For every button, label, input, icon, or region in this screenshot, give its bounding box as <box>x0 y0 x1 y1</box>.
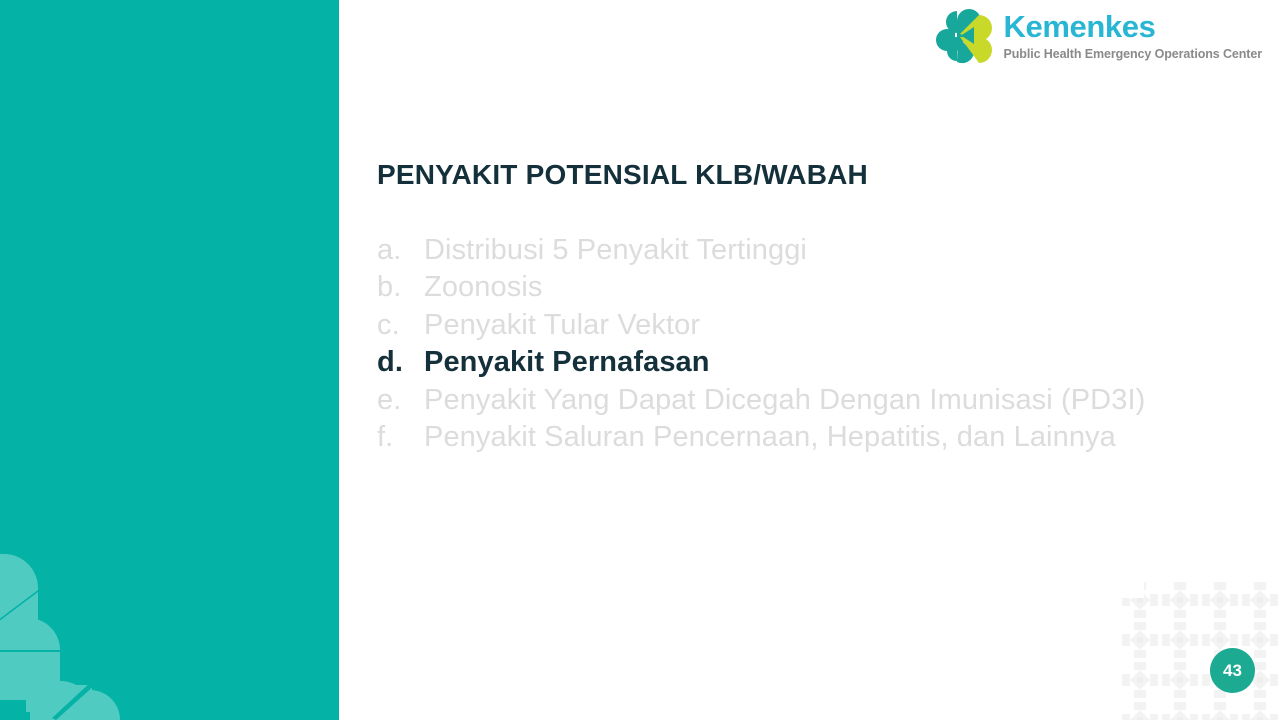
agenda-item[interactable]: a.Distribusi 5 Penyakit Tertinggi <box>377 232 1207 270</box>
agenda-item-marker: a. <box>377 232 424 270</box>
agenda-item-label: Penyakit Yang Dapat Dicegah Dengan Imuni… <box>424 382 1207 420</box>
agenda-item[interactable]: e.Penyakit Yang Dapat Dicegah Dengan Imu… <box>377 382 1207 420</box>
brand-logo: Kemenkes Public Health Emergency Operati… <box>934 7 1262 65</box>
agenda-list: a.Distribusi 5 Penyakit Tertinggib.Zoono… <box>377 232 1207 457</box>
agenda-item-label: Penyakit Saluran Pencernaan, Hepatitis, … <box>424 419 1207 457</box>
kemenkes-clover-logo-icon <box>934 7 996 65</box>
agenda-item[interactable]: d.Penyakit Pernafasan <box>377 344 1207 382</box>
agenda-item[interactable]: f.Penyakit Saluran Pencernaan, Hepatitis… <box>377 419 1207 457</box>
agenda-item-marker: d. <box>377 344 424 382</box>
agenda-item-marker: f. <box>377 419 424 457</box>
agenda-item-marker: b. <box>377 269 424 307</box>
agenda-item[interactable]: c.Penyakit Tular Vektor <box>377 307 1207 345</box>
brand-name: Kemenkes <box>1004 11 1262 44</box>
left-sidebar-panel <box>0 0 339 720</box>
agenda-item-label: Penyakit Pernafasan <box>424 344 1207 382</box>
slide-canvas: Kemenkes Public Health Emergency Operati… <box>0 0 1280 720</box>
agenda-item-marker: e. <box>377 382 424 420</box>
agenda-item-label: Penyakit Tular Vektor <box>424 307 1207 345</box>
agenda-item-marker: c. <box>377 307 424 345</box>
corner-batik-ornament-icon <box>1120 580 1280 720</box>
page-title: PENYAKIT POTENSIAL KLB/WABAH <box>377 158 1207 192</box>
agenda-item[interactable]: b.Zoonosis <box>377 269 1207 307</box>
agenda-item-label: Zoonosis <box>424 269 1207 307</box>
brand-tagline: Public Health Emergency Operations Cente… <box>1004 47 1262 61</box>
agenda-item-label: Distribusi 5 Penyakit Tertinggi <box>424 232 1207 270</box>
brand-logo-text: Kemenkes Public Health Emergency Operati… <box>1004 11 1262 61</box>
slide-content: PENYAKIT POTENSIAL KLB/WABAH a.Distribus… <box>377 158 1207 457</box>
sidebar-ornament-icon <box>0 540 200 720</box>
page-number-badge: 43 <box>1210 648 1255 693</box>
